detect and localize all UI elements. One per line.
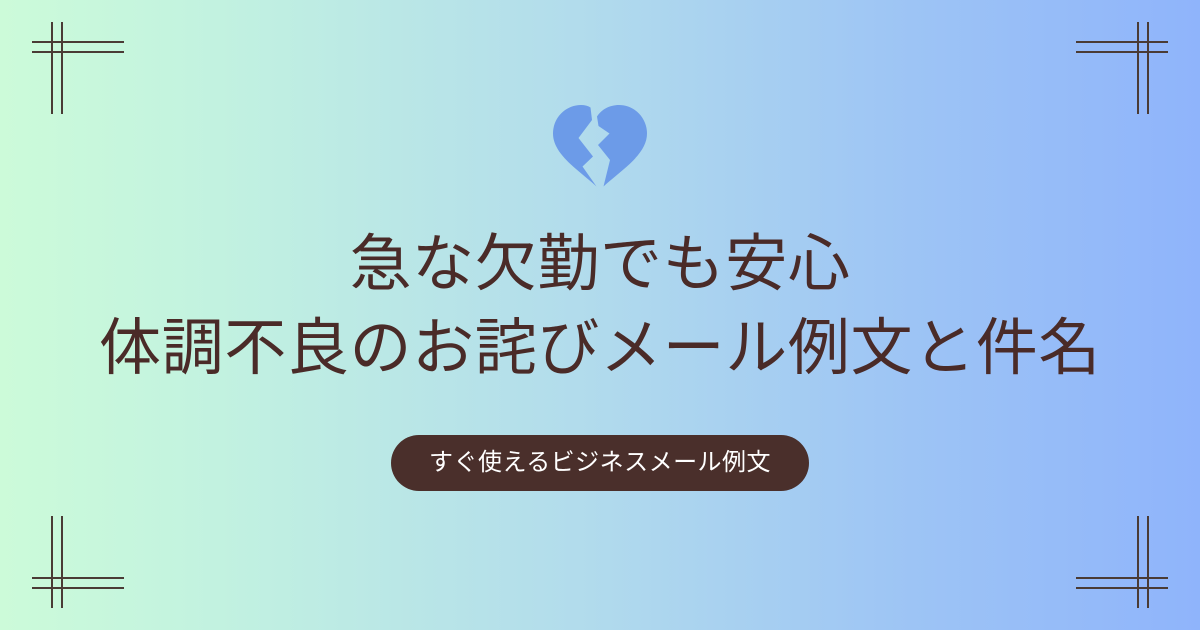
- title-line-1: 急な欠勤でも安心: [99, 222, 1101, 306]
- status-badge: すぐ使えるビジネスメール例文: [391, 435, 809, 491]
- card-content: 急な欠勤でも安心 体調不良のお詫びメール例文と件名 すぐ使えるビジネスメール例文: [0, 0, 1200, 630]
- title-line-2: 体調不良のお詫びメール例文と件名: [99, 306, 1101, 390]
- page-title: 急な欠勤でも安心 体調不良のお詫びメール例文と件名: [53, 222, 1147, 389]
- broken-heart-icon: [552, 104, 648, 188]
- ogp-card: 急な欠勤でも安心 体調不良のお詫びメール例文と件名 すぐ使えるビジネスメール例文: [0, 0, 1200, 630]
- badge-container: すぐ使えるビジネスメール例文: [391, 435, 809, 491]
